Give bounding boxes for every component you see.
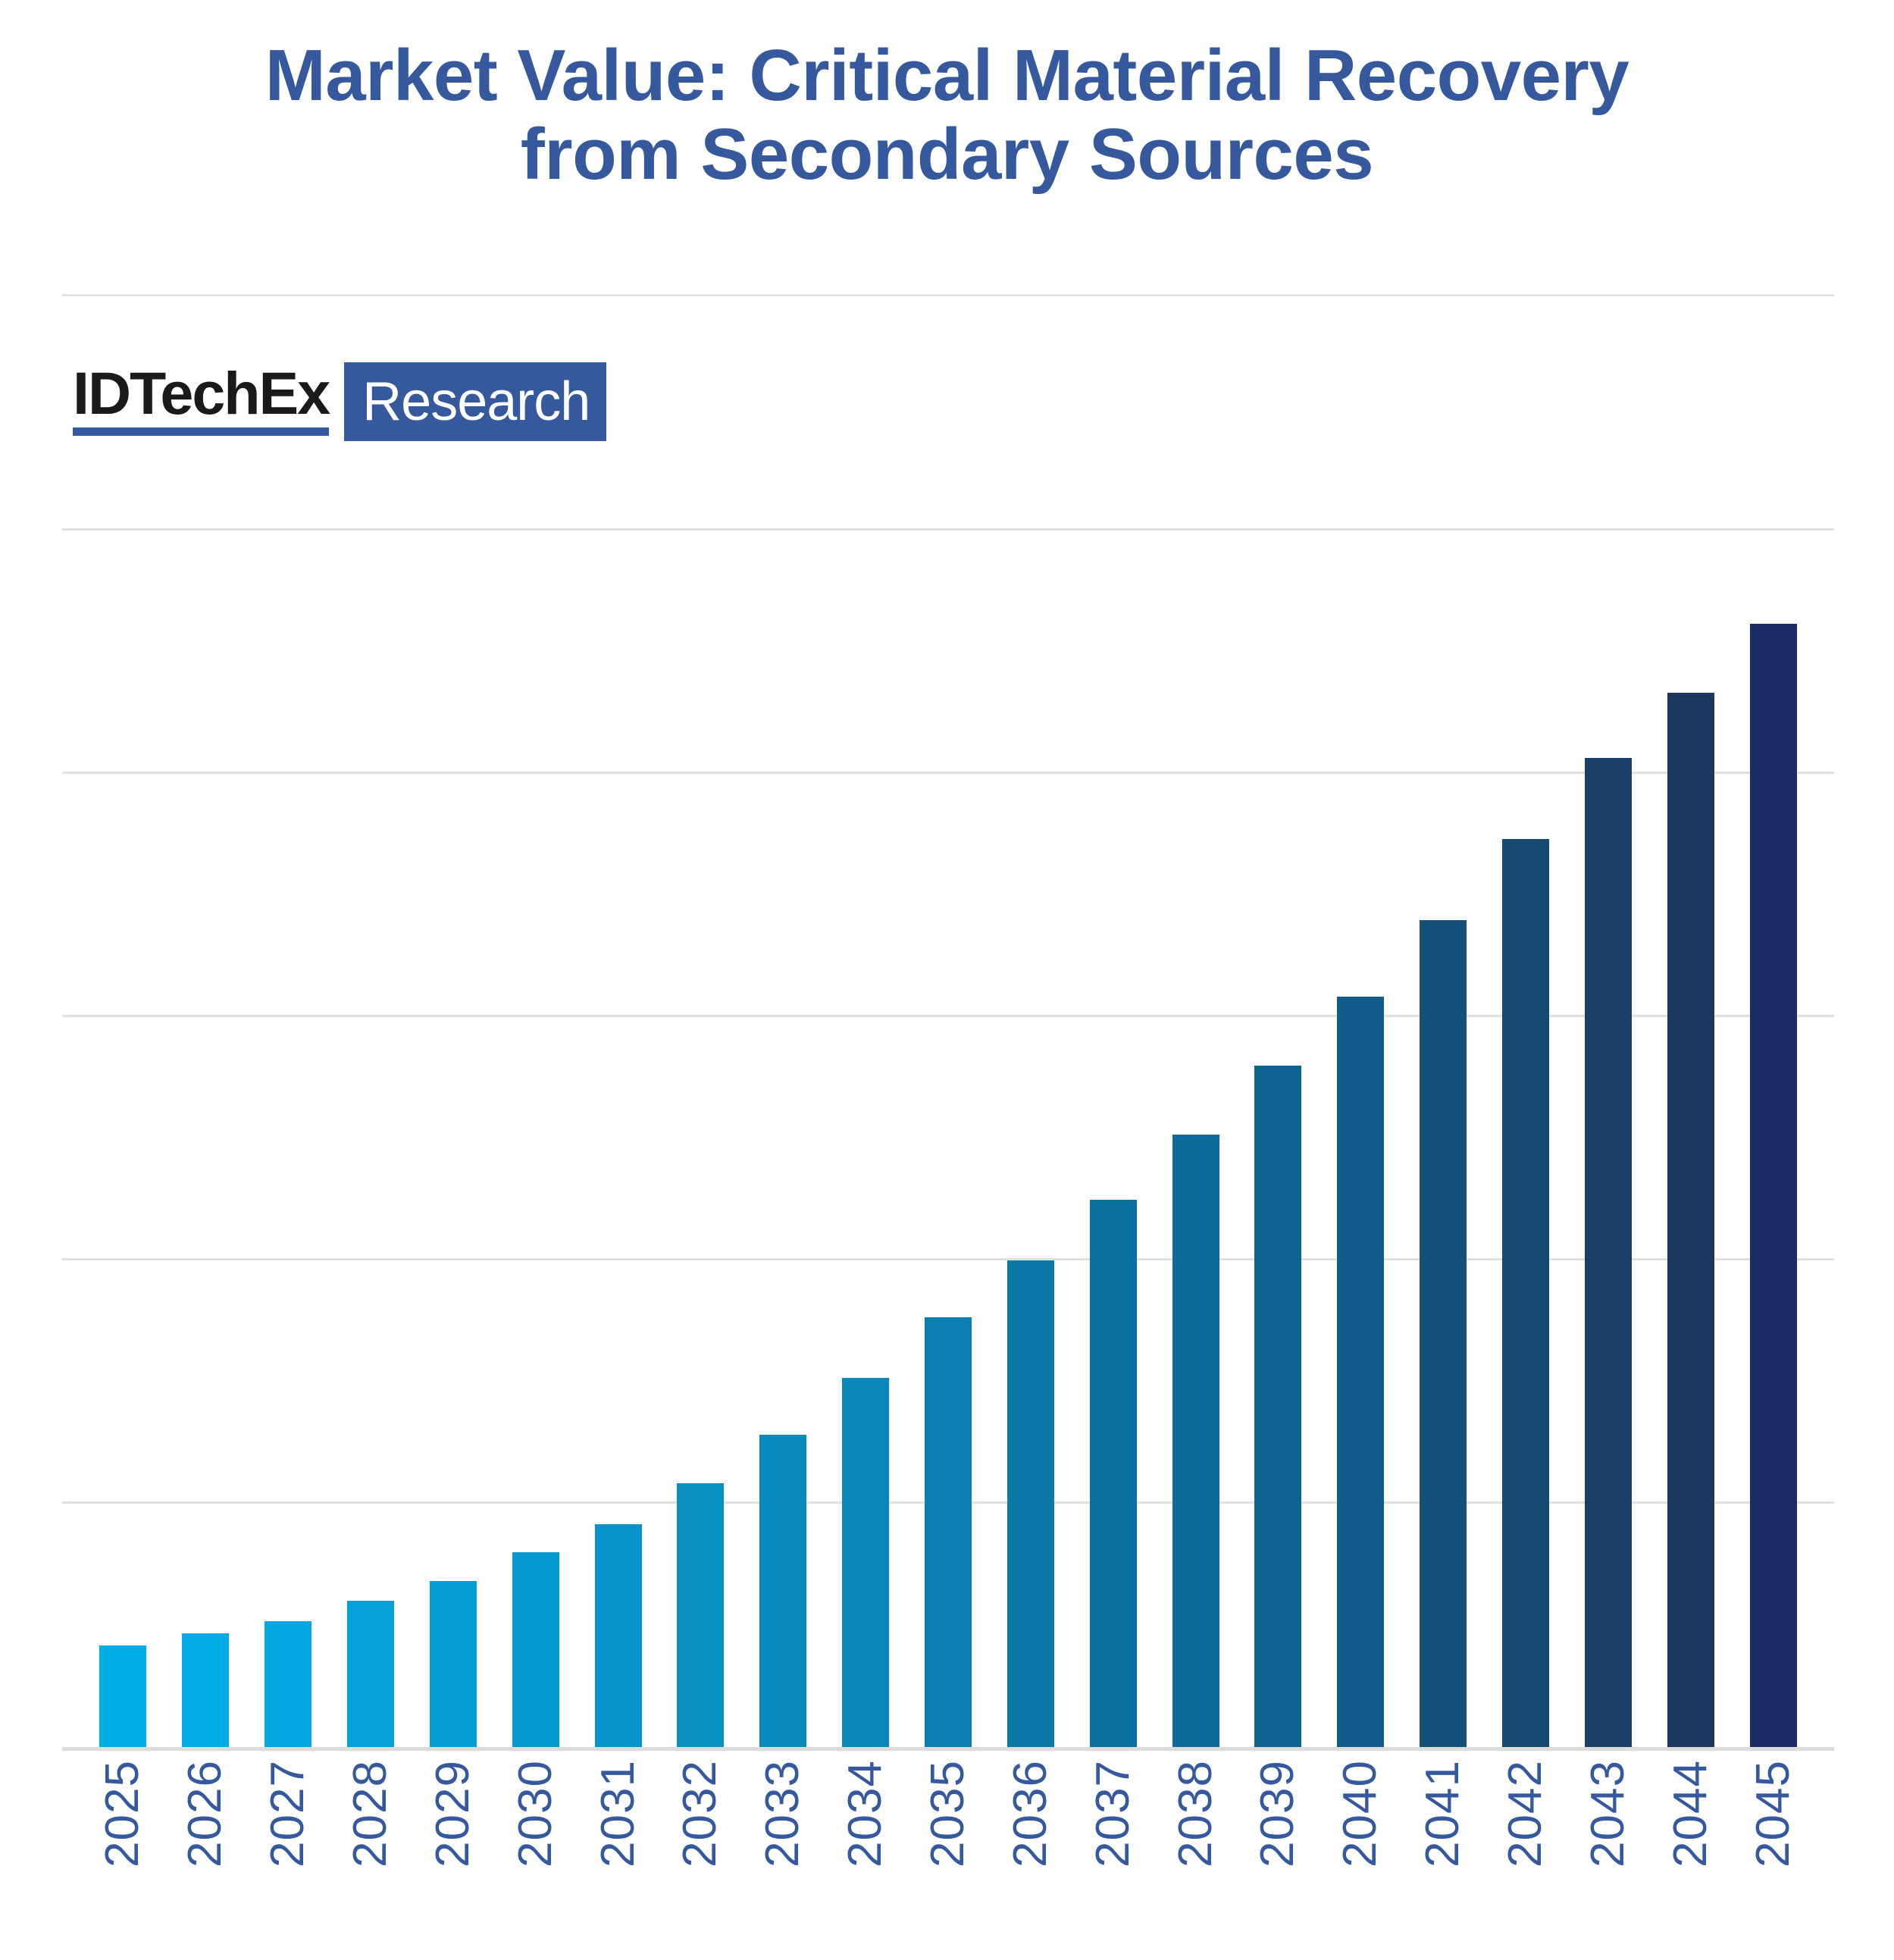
chart-title: Market Value: Critical Material Recovery…	[121, 36, 1773, 193]
logo-wordmark: IDTechEx	[73, 362, 329, 424]
x-axis-label-slot: 2038	[1154, 1760, 1237, 1949]
x-axis-label-slot: 2044	[1649, 1760, 1732, 1949]
x-axis-label-2040: 2040	[1337, 1760, 1384, 1868]
bar-slot	[494, 531, 577, 1747]
bar-2028[interactable]	[347, 1601, 394, 1747]
x-axis-label-2025: 2025	[99, 1760, 146, 1868]
bar-2035[interactable]	[925, 1317, 972, 1747]
bar-slot	[412, 531, 494, 1747]
bar-slot	[164, 531, 247, 1747]
x-axis-label-slot: 2035	[907, 1760, 990, 1949]
logo-underline	[73, 427, 329, 436]
x-axis-label-2032: 2032	[677, 1760, 724, 1868]
bar-2025[interactable]	[99, 1645, 146, 1747]
bar-slot	[1320, 531, 1402, 1747]
bar-slot	[1237, 531, 1320, 1747]
x-axis-label-2045: 2045	[1750, 1760, 1797, 1868]
x-axis-label-slot: 2036	[989, 1760, 1072, 1949]
bar-slot	[247, 531, 330, 1747]
x-axis-label-2033: 2033	[759, 1760, 806, 1868]
x-axis-label-slot: 2028	[330, 1760, 412, 1949]
x-axis-label-slot: 2041	[1402, 1760, 1485, 1949]
x-axis-label-slot: 2042	[1485, 1760, 1567, 1949]
x-axis-label-2026: 2026	[182, 1760, 229, 1868]
x-axis-label-slot: 2032	[659, 1760, 742, 1949]
x-axis-label-2039: 2039	[1254, 1760, 1301, 1868]
x-axis-label-slot: 2045	[1732, 1760, 1814, 1949]
bar-2037[interactable]	[1090, 1200, 1137, 1747]
x-axis-label-2044: 2044	[1667, 1760, 1714, 1868]
x-axis-label-2028: 2028	[347, 1760, 394, 1868]
x-axis-label-slot: 2034	[825, 1760, 907, 1949]
x-axis-label-slot: 2029	[412, 1760, 494, 1949]
x-axis-label-2043: 2043	[1585, 1760, 1632, 1868]
bar-slot	[82, 531, 164, 1747]
logo-wordmark-wrap: IDTechEx	[73, 362, 344, 441]
bar-2032[interactable]	[677, 1483, 724, 1747]
bar-2039[interactable]	[1254, 1066, 1301, 1747]
page-title: Market Value: Critical Material Recovery…	[0, 36, 1894, 193]
bar-2042[interactable]	[1502, 839, 1549, 1747]
bar-slot	[989, 531, 1072, 1747]
bar-slot	[742, 531, 825, 1747]
x-axis-label-2034: 2034	[842, 1760, 889, 1868]
bar-2033[interactable]	[759, 1435, 806, 1747]
bar-slot	[659, 531, 742, 1747]
x-axis-label-2038: 2038	[1172, 1760, 1219, 1868]
bar-2044[interactable]	[1667, 693, 1714, 1747]
chart-title-line-1: Market Value: Critical Material Recovery	[121, 36, 1773, 115]
x-axis-label-slot: 2025	[82, 1760, 164, 1949]
bar-slot	[577, 531, 659, 1747]
bar-slot	[1402, 531, 1485, 1747]
bar-2043[interactable]	[1585, 758, 1632, 1747]
bar-2026[interactable]	[182, 1633, 229, 1747]
bar-2038[interactable]	[1172, 1135, 1219, 1747]
bar-2045[interactable]	[1750, 624, 1797, 1747]
bar-2030[interactable]	[512, 1552, 559, 1747]
bar-slot	[825, 531, 907, 1747]
x-axis-label-2036: 2036	[1007, 1760, 1054, 1868]
x-axis-label-slot: 2031	[577, 1760, 659, 1949]
bar-2040[interactable]	[1337, 997, 1384, 1747]
x-axis-label-2035: 2035	[925, 1760, 972, 1868]
logo-research-badge: Research	[344, 362, 606, 441]
x-axis-label-2031: 2031	[595, 1760, 642, 1868]
plot-area	[62, 531, 1834, 1751]
bar-series	[62, 531, 1834, 1747]
x-axis-label-slot: 2033	[742, 1760, 825, 1949]
bar-2034[interactable]	[842, 1378, 889, 1747]
bar-slot	[907, 531, 990, 1747]
chart-title-line-2: from Secondary Sources	[121, 115, 1773, 194]
x-axis-label-slot: 2026	[164, 1760, 247, 1949]
x-axis-label-2027: 2027	[265, 1760, 311, 1868]
x-axis-label-2030: 2030	[512, 1760, 559, 1868]
bar-slot	[1567, 531, 1649, 1747]
bar-slot	[1072, 531, 1154, 1747]
idtechex-research-logo: IDTechEx Research	[73, 362, 606, 441]
x-axis-label-2042: 2042	[1502, 1760, 1549, 1868]
bar-slot	[1154, 531, 1237, 1747]
bar-slot	[1649, 531, 1732, 1747]
bar-2031[interactable]	[595, 1524, 642, 1747]
x-axis-line	[62, 1747, 1834, 1751]
x-axis-label-slot: 2043	[1567, 1760, 1649, 1949]
bar-2029[interactable]	[430, 1581, 477, 1747]
x-axis-label-2037: 2037	[1090, 1760, 1137, 1868]
x-axis-label-2029: 2029	[430, 1760, 477, 1868]
x-axis-labels: 2025202620272028202920302031203220332034…	[62, 1760, 1834, 1949]
bar-slot	[1485, 531, 1567, 1747]
bar-2036[interactable]	[1007, 1260, 1054, 1747]
x-axis-label-slot: 2030	[494, 1760, 577, 1949]
bar-slot	[330, 531, 412, 1747]
logo-research-label: Research	[362, 374, 590, 429]
title-divider	[62, 294, 1834, 296]
x-axis-label-slot: 2039	[1237, 1760, 1320, 1949]
x-axis-label-slot: 2040	[1320, 1760, 1402, 1949]
x-axis-label-2041: 2041	[1420, 1760, 1467, 1868]
bar-slot	[1732, 531, 1814, 1747]
chart-page: Market Value: Critical Material Recovery…	[0, 0, 1894, 1960]
bar-2041[interactable]	[1420, 920, 1467, 1747]
bar-2027[interactable]	[265, 1621, 311, 1747]
x-axis-label-slot: 2027	[247, 1760, 330, 1949]
x-axis-label-slot: 2037	[1072, 1760, 1154, 1949]
